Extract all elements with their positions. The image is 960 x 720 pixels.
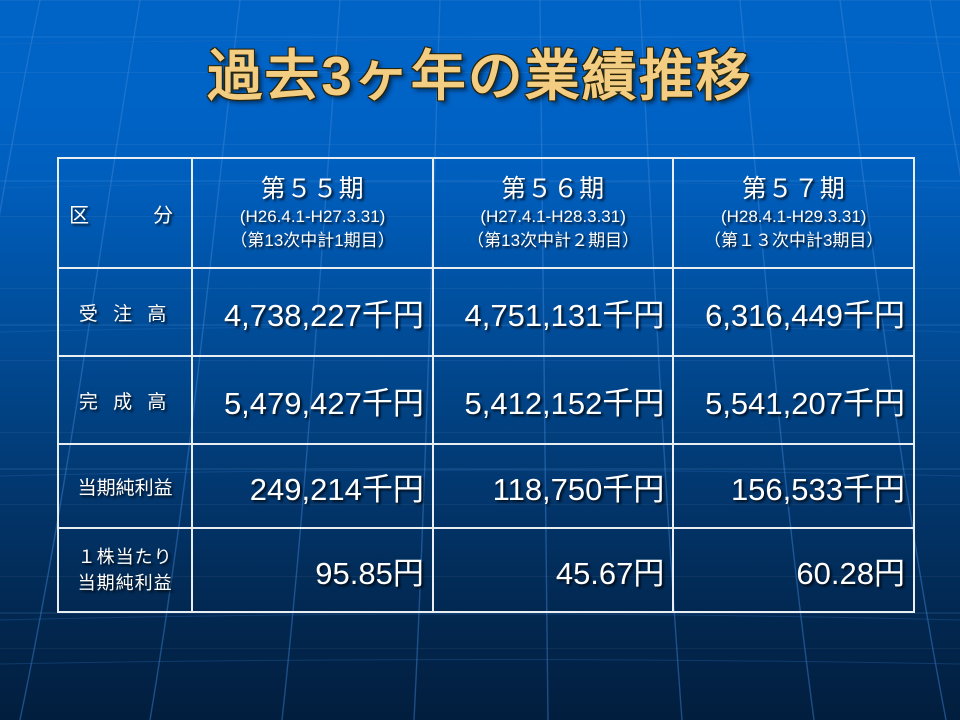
period-range: (H28.4.1-H29.3.31) xyxy=(682,205,905,229)
table-row: 完 成 高 5,479,427千円 5,412,152千円 5,541,207千… xyxy=(58,356,914,444)
performance-table: 区 分 第５５期 (H26.4.1-H27.3.31) （第13次中計1期目） … xyxy=(57,157,915,613)
cell-orders-period-1: 4,738,227千円 xyxy=(192,268,433,356)
period-plan: （第13次中計1期目） xyxy=(201,229,424,253)
period-name: 第５６期 xyxy=(442,174,665,205)
header-cell-period-2: 第５６期 (H27.4.1-H28.3.31) （第13次中計２期目） xyxy=(433,158,674,268)
table-row: 当期純利益 249,214千円 118,750千円 156,533千円 xyxy=(58,444,914,528)
cell-orders-period-2: 4,751,131千円 xyxy=(433,268,674,356)
row-label-orders: 受 注 高 xyxy=(58,268,192,356)
cell-eps-period-2: 45.67円 xyxy=(433,528,674,612)
period-plan: （第１３次中計3期目） xyxy=(682,229,905,253)
period-plan: （第13次中計２期目） xyxy=(442,229,665,253)
cell-eps-period-3: 60.28円 xyxy=(673,528,914,612)
period-name: 第５７期 xyxy=(682,174,905,205)
header-cell-period-1: 第５５期 (H26.4.1-H27.3.31) （第13次中計1期目） xyxy=(192,158,433,268)
cell-completions-period-1: 5,479,427千円 xyxy=(192,356,433,444)
table-row: １株当たり 当期純利益 95.85円 45.67円 60.28円 xyxy=(58,528,914,612)
cell-net-income-period-2: 118,750千円 xyxy=(433,444,674,528)
page-title: 過去3ヶ年の業績推移 xyxy=(207,44,753,108)
period-range: (H27.4.1-H28.3.31) xyxy=(442,205,665,229)
cell-net-income-period-3: 156,533千円 xyxy=(673,444,914,528)
period-range: (H26.4.1-H27.3.31) xyxy=(201,205,424,229)
row-label-eps-line1: １株当たり xyxy=(67,544,183,570)
row-label-completions: 完 成 高 xyxy=(58,356,192,444)
cell-eps-period-1: 95.85円 xyxy=(192,528,433,612)
header-cell-period-3: 第５７期 (H28.4.1-H29.3.31) （第１３次中計3期目） xyxy=(673,158,914,268)
row-label-eps-line2: 当期純利益 xyxy=(67,570,183,596)
cell-completions-period-2: 5,412,152千円 xyxy=(433,356,674,444)
header-cell-category: 区 分 xyxy=(58,158,192,268)
row-label-eps: １株当たり 当期純利益 xyxy=(58,528,192,612)
table-row: 受 注 高 4,738,227千円 4,751,131千円 6,316,449千… xyxy=(58,268,914,356)
slide-canvas: 過去3ヶ年の業績推移 区 分 第５５期 (H26.4.1-H27.3.31) （… xyxy=(0,0,960,720)
title-container: 過去3ヶ年の業績推移 xyxy=(0,44,960,108)
cell-completions-period-3: 5,541,207千円 xyxy=(673,356,914,444)
table-header-row: 区 分 第５５期 (H26.4.1-H27.3.31) （第13次中計1期目） … xyxy=(58,158,914,268)
cell-net-income-period-1: 249,214千円 xyxy=(192,444,433,528)
cell-orders-period-3: 6,316,449千円 xyxy=(673,268,914,356)
row-label-net-income: 当期純利益 xyxy=(58,444,192,528)
period-name: 第５５期 xyxy=(201,174,424,205)
